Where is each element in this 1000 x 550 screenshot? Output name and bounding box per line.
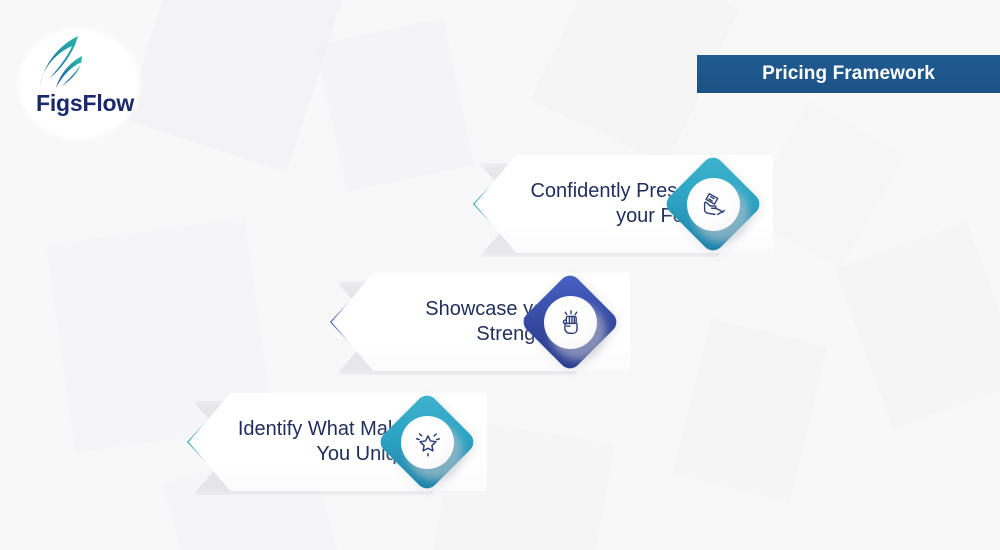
page-title: Pricing Framework [762, 63, 935, 85]
brand-logo: FigsFlow [18, 28, 146, 140]
hand-holding-money-icon [699, 190, 729, 220]
raised-fist-icon [556, 308, 586, 338]
slide-canvas: FigsFlow Pricing Framework Confidently P… [0, 0, 1000, 550]
step-badge-3[interactable] [381, 396, 473, 488]
sparkling-star-icon [413, 428, 443, 458]
badge-circle [401, 416, 454, 469]
step-row-3[interactable]: Identify What Makes You Unique [187, 393, 487, 491]
step-row-1[interactable]: Confidently Present your Fees [473, 155, 773, 253]
brand-name: FigsFlow [36, 90, 134, 117]
badge-circle [687, 178, 740, 231]
page-title-banner: Pricing Framework [697, 55, 1000, 93]
step-badge-2[interactable] [524, 276, 616, 368]
step-row-2[interactable]: Showcase your Strengths [330, 273, 630, 371]
step-badge-1[interactable] [667, 158, 759, 250]
badge-circle [544, 296, 597, 349]
figsflow-swoosh-icon [38, 34, 94, 96]
